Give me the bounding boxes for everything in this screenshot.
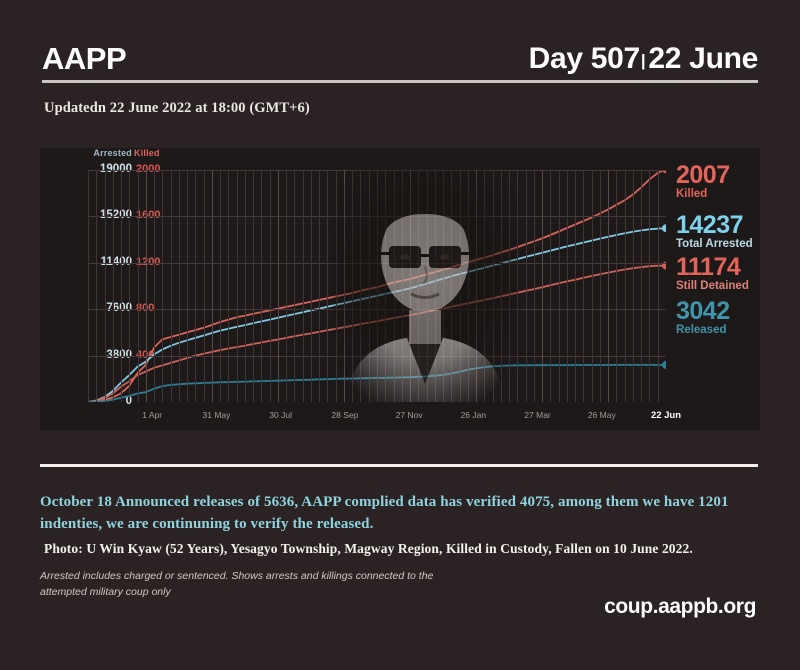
total-arrested-value: 14237 bbox=[676, 214, 753, 238]
y-axis-left-title: Arrested bbox=[40, 148, 132, 158]
date-label: 22 June bbox=[648, 44, 758, 74]
divider-top bbox=[42, 80, 758, 83]
plot-area bbox=[88, 170, 666, 402]
series-line bbox=[88, 365, 666, 402]
total-arrested-label: Total Arrested bbox=[676, 238, 753, 251]
still-detained-label: Still Detained bbox=[676, 280, 749, 293]
x-tick: 30 Jul bbox=[251, 410, 311, 420]
x-tick: 27 Mar bbox=[508, 410, 568, 420]
page-title: AAPP bbox=[42, 43, 126, 74]
website-url[interactable]: coup.aappb.org bbox=[604, 595, 756, 619]
y-axis-right-title: Killed bbox=[134, 148, 160, 158]
released-value: 3042 bbox=[676, 300, 730, 324]
x-tick: 1 Apr bbox=[122, 410, 182, 420]
series-line bbox=[88, 228, 666, 402]
x-tick: 22 Jun bbox=[636, 410, 696, 421]
separator: | bbox=[640, 52, 648, 69]
x-tick: 28 Sep bbox=[315, 410, 375, 420]
chart-lines bbox=[88, 170, 666, 402]
divider-middle bbox=[40, 464, 758, 467]
killed-value: 2007 bbox=[676, 164, 730, 188]
series-endpoint-marker bbox=[662, 224, 666, 232]
callout-killed: 2007 Killed bbox=[676, 164, 730, 200]
x-tick: 26 Jan bbox=[443, 410, 503, 420]
callout-released: 3042 Released bbox=[676, 300, 730, 336]
x-tick: 27 Nov bbox=[379, 410, 439, 420]
series-line bbox=[88, 170, 666, 402]
chart-panel: Arrested Killed 038007600114001520019000… bbox=[40, 148, 760, 430]
header: AAPP Day 507|22 June bbox=[42, 28, 758, 74]
infographic-page: AAPP Day 507|22 June Updatedn 22 June 20… bbox=[0, 0, 800, 670]
photo-credit: Photo: U Win Kyaw (52 Years), Yesagyo To… bbox=[44, 541, 774, 557]
callout-total-arrested: 14237 Total Arrested bbox=[676, 214, 753, 250]
released-label: Released bbox=[676, 324, 730, 337]
series-line bbox=[88, 266, 666, 402]
day-counter: Day 507|22 June bbox=[529, 44, 758, 74]
series-endpoint-marker bbox=[662, 361, 666, 369]
still-detained-value: 11174 bbox=[676, 256, 749, 280]
killed-label: Killed bbox=[676, 188, 730, 201]
updated-timestamp: Updatedn 22 June 2022 at 18:00 (GMT+6) bbox=[44, 100, 310, 117]
day-label: Day 507 bbox=[529, 44, 640, 74]
x-tick: 31 May bbox=[186, 410, 246, 420]
callout-still-detained: 11174 Still Detained bbox=[676, 256, 749, 292]
series-endpoint-marker bbox=[662, 262, 666, 270]
release-note: October 18 Announced releases of 5636, A… bbox=[40, 492, 762, 536]
x-tick: 26 May bbox=[572, 410, 632, 420]
disclaimer: Arrested includes charged or sentenced. … bbox=[40, 568, 460, 601]
